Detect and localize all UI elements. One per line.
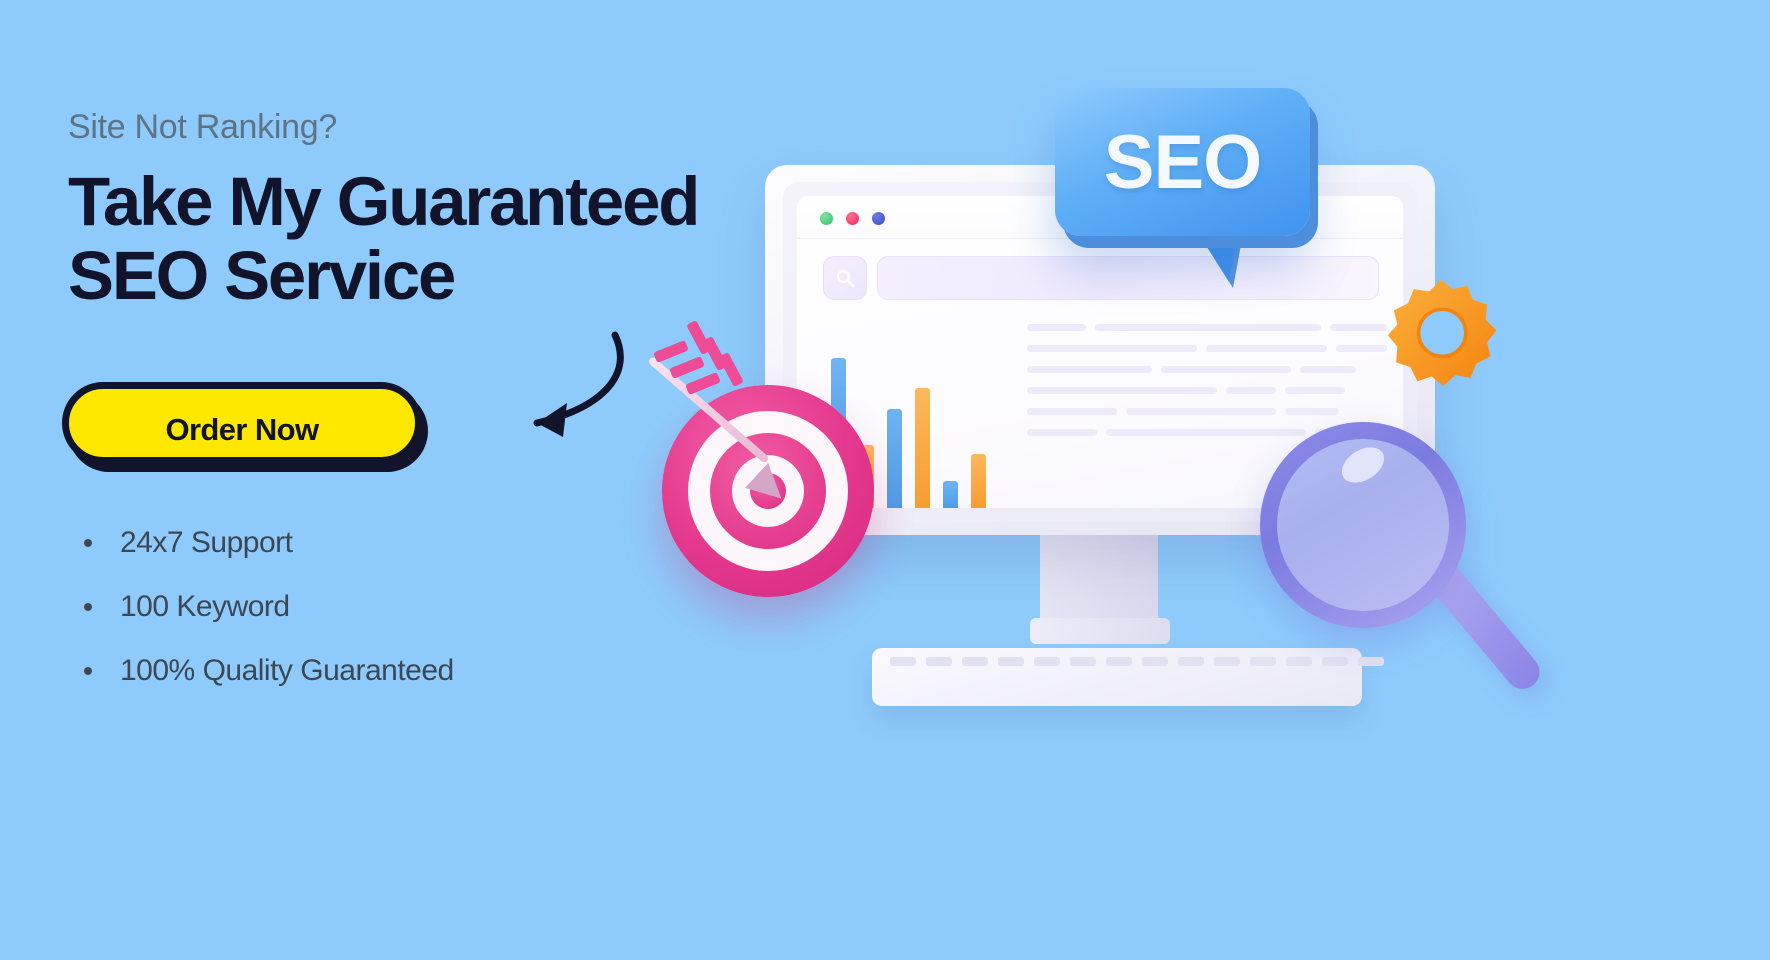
traffic-light-red-icon[interactable] bbox=[846, 212, 859, 225]
gear-icon bbox=[1382, 275, 1500, 393]
arrow-fletching bbox=[669, 356, 705, 379]
seo-bubble-label: SEO bbox=[1104, 119, 1262, 206]
order-now-button[interactable]: Order Now bbox=[62, 382, 422, 464]
hero-illustration: SEO bbox=[640, 0, 1770, 960]
bar-5 bbox=[943, 481, 958, 508]
list-item: 100 Keyword bbox=[84, 589, 454, 625]
bar-4 bbox=[915, 388, 930, 508]
list-item: 100% Quality Guaranteed bbox=[84, 653, 454, 689]
search-input[interactable] bbox=[877, 256, 1379, 300]
monitor-stand bbox=[1040, 533, 1158, 623]
traffic-light-blue-icon[interactable] bbox=[872, 212, 885, 225]
feature-label: 100 Keyword bbox=[120, 590, 290, 623]
monitor-stand-base bbox=[1030, 618, 1170, 644]
cta-container: Order Now bbox=[62, 382, 422, 464]
keyboard-icon bbox=[872, 648, 1362, 706]
feature-label: 100% Quality Guaranteed bbox=[120, 654, 454, 687]
traffic-light-green-icon[interactable] bbox=[820, 212, 833, 225]
arrow-fletching bbox=[718, 352, 744, 387]
bullet-dot-icon bbox=[84, 603, 92, 611]
list-item: 24x7 Support bbox=[84, 525, 454, 561]
browser-search-row bbox=[823, 256, 1379, 300]
speech-bubble-tail bbox=[1195, 228, 1239, 282]
bar-3 bbox=[887, 409, 902, 508]
bullet-dot-icon bbox=[84, 667, 92, 675]
keyboard-keys bbox=[890, 657, 1384, 666]
bullet-dot-icon bbox=[84, 539, 92, 547]
search-icon[interactable] bbox=[823, 256, 867, 300]
arrow-fletching bbox=[653, 340, 689, 363]
bar-6 bbox=[971, 454, 986, 508]
arrow-fletching bbox=[685, 372, 721, 395]
curved-arrow-icon bbox=[455, 325, 645, 460]
feature-label: 24x7 Support bbox=[120, 526, 292, 559]
feature-list: 24x7 Support 100 Keyword 100% Quality Gu… bbox=[84, 525, 454, 717]
seo-speech-bubble: SEO bbox=[1055, 88, 1310, 236]
